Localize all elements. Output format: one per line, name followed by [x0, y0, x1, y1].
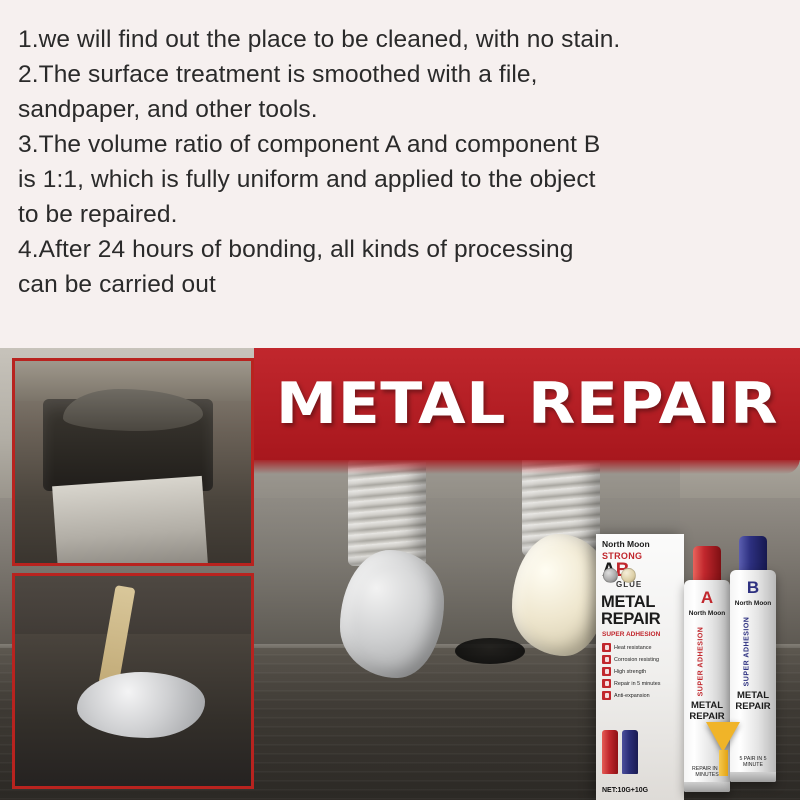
tube-a-metal-label: METAL — [691, 700, 723, 711]
expansion-icon — [602, 691, 611, 700]
funnel-stem-icon — [719, 750, 728, 776]
package-feature-label: Repair in 5 minutes — [614, 681, 660, 687]
tube-a-brand: North Moon — [684, 610, 730, 617]
inset-photo-weld-repair — [12, 573, 254, 789]
package-repair-label: REPAIR — [601, 611, 684, 628]
instruction-line-3: sandpaper, and other tools. — [18, 92, 782, 127]
package-tube-images — [602, 730, 638, 774]
banner-title: METAL REPAIR — [232, 348, 800, 460]
flame-icon — [602, 643, 611, 652]
product-package-box: North Moon STRONG AB GLUE METAL REPAIR S… — [596, 534, 684, 800]
tube-b-cap — [739, 536, 767, 574]
inset-photo-repair-joint — [12, 358, 254, 566]
product-info-page: 1.we will find out the place to be clean… — [0, 0, 800, 800]
package-brand: North Moon — [602, 539, 684, 549]
tube-a-repair-label: REPAIR — [689, 711, 724, 722]
package-feature-label: High strength — [614, 669, 646, 675]
instruction-line-7: 4.After 24 hours of bonding, all kinds o… — [18, 232, 782, 267]
tube-b-metal-label: METAL — [737, 690, 769, 701]
tube-a-metal-repair: METAL REPAIR — [684, 700, 730, 722]
funnel-icon — [706, 722, 740, 752]
inset2-glue-patch — [77, 672, 205, 738]
disc-grey-icon — [603, 568, 618, 583]
package-disc-images — [603, 568, 636, 583]
package-metal-label: METAL — [601, 594, 684, 611]
package-feature-item: Heat resistance — [602, 643, 684, 652]
instruction-line-6: to be repaired. — [18, 197, 782, 232]
package-feature-label: Heat resistance — [614, 645, 651, 651]
package-tube-a-icon — [602, 730, 618, 774]
package-feature-item: Anti-expansion — [602, 691, 684, 700]
instruction-line-4: 3.The volume ratio of component A and co… — [18, 127, 782, 162]
instruction-line-2: 2.The surface treatment is smoothed with… — [18, 57, 782, 92]
disc-cream-icon — [621, 568, 636, 583]
package-net-weight: NET:10G+10G — [602, 787, 648, 794]
banner-title-bar: METAL REPAIR — [254, 348, 800, 460]
instruction-line-5: is 1:1, which is fully uniform and appli… — [18, 162, 782, 197]
product-banner-image: METAL REPAIR North Moon STRONG AB GLUE M… — [0, 348, 800, 800]
package-feature-list: Heat resistance Corrosion resisting High… — [602, 643, 684, 700]
tube-b-bottom-text: 5 PAIR IN 5 MINUTE — [730, 756, 776, 768]
instructions-block: 1.we will find out the place to be clean… — [0, 0, 800, 348]
tube-b-metal-repair: METAL REPAIR — [730, 690, 776, 712]
package-feature-label: Anti-expansion — [614, 693, 650, 699]
clock-icon — [602, 679, 611, 688]
package-feature-item: Corrosion resisting — [602, 655, 684, 664]
package-subtitle: SUPER ADHESION — [602, 631, 684, 638]
tube-b-seam — [730, 772, 776, 782]
tube-b-repair-label: REPAIR — [735, 701, 770, 712]
strength-icon — [602, 667, 611, 676]
tube-b-brand: North Moon — [730, 600, 776, 607]
tube-a-seam — [684, 782, 730, 792]
package-tube-b-icon — [622, 730, 638, 774]
photo-bench-hole — [455, 638, 525, 664]
package-feature-label: Corrosion resisting — [614, 657, 659, 663]
package-feature-item: High strength — [602, 667, 684, 676]
tube-b-letter: B — [730, 578, 776, 598]
tube-a-cap — [693, 546, 721, 584]
shield-icon — [602, 655, 611, 664]
instruction-line-1: 1.we will find out the place to be clean… — [18, 22, 782, 57]
inset1-pipe — [52, 476, 208, 566]
package-feature-item: Repair in 5 minutes — [602, 679, 684, 688]
instruction-line-8: can be carried out — [18, 267, 782, 302]
tube-a-letter: A — [684, 588, 730, 608]
